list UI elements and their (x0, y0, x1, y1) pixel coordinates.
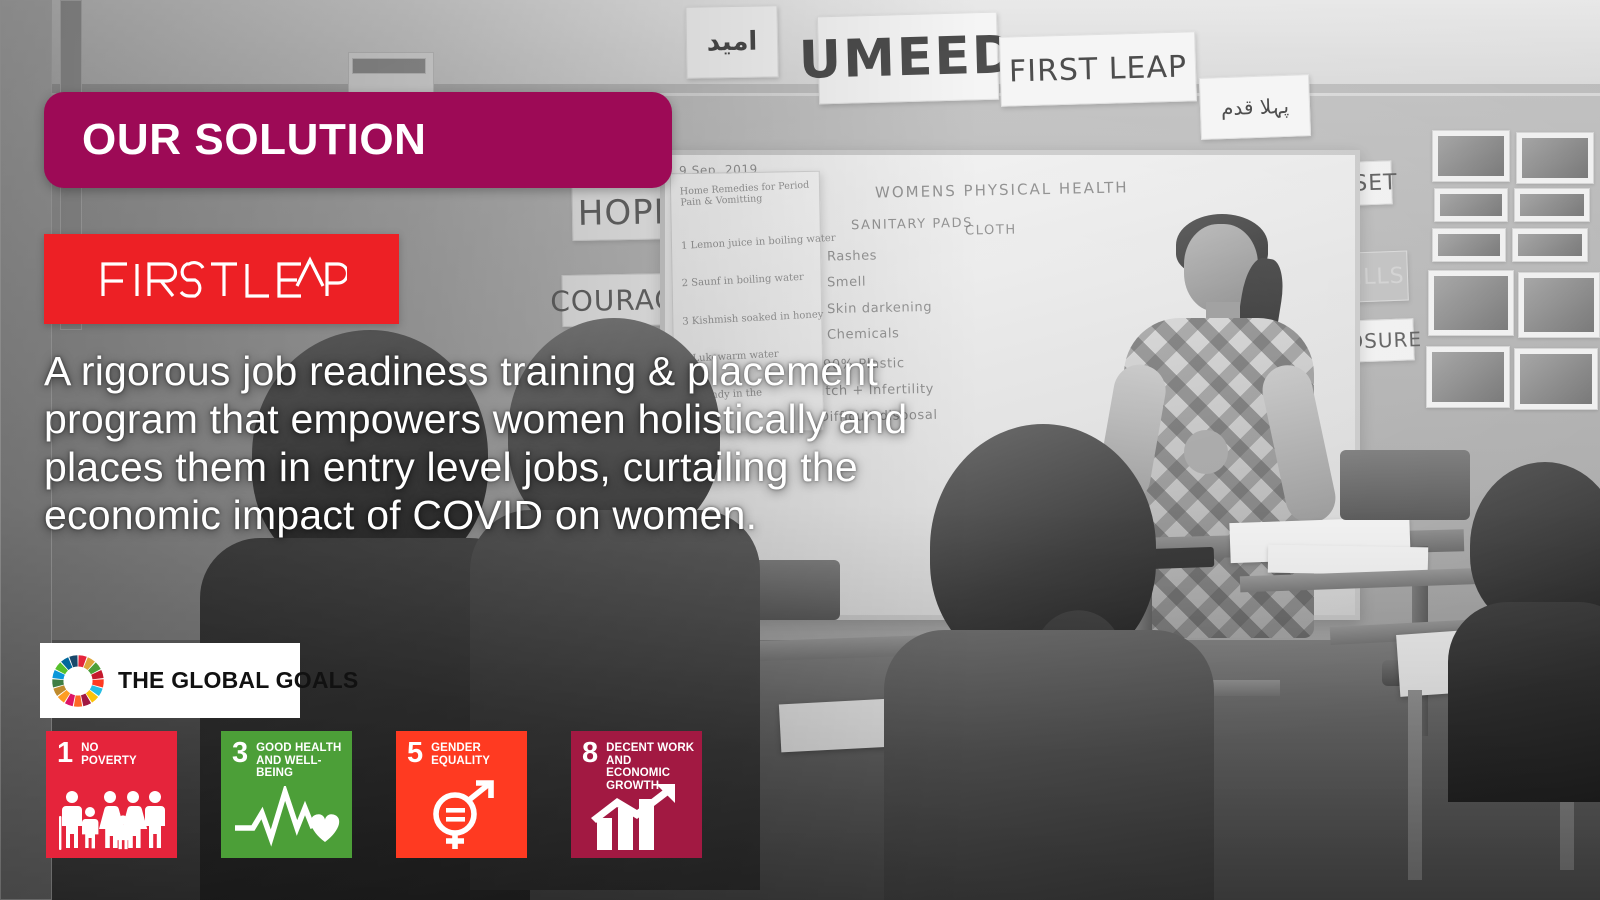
sdg-badge-1: 1 NO POVERTY (46, 731, 177, 858)
sdg-badge-8: 8 DECENT WORK AND ECONOMIC GROWTH (571, 731, 702, 858)
section-title-banner: OUR SOLUTION (44, 92, 672, 188)
page-title: OUR SOLUTION (44, 115, 427, 165)
sdg-label: NO POVERTY (81, 740, 137, 767)
sdg-label: GOOD HEALTH AND WELL-BEING (256, 740, 346, 780)
sdg-number: 1 (57, 740, 73, 767)
sdg-number: 3 (232, 740, 248, 767)
presentation-slide: امید UMEED FIRST LEAP پہلا قدم HOPE COUR… (0, 0, 1600, 900)
growth-chart-icon (571, 784, 702, 852)
firstleap-logo-box (44, 234, 399, 324)
slide-content: OUR SOLUTION (0, 0, 1600, 900)
heartbeat-icon (221, 784, 352, 852)
sdg-number: 5 (407, 740, 423, 767)
family-icon (46, 784, 177, 852)
sdg-number: 8 (582, 740, 598, 767)
global-goals-lockup: THE GLOBAL GOALS (40, 643, 300, 718)
global-goals-label: THE GLOBAL GOALS (118, 667, 358, 694)
solution-description: A rigorous job readiness training & plac… (44, 348, 944, 540)
sdg-label: GENDER EQUALITY (431, 740, 490, 767)
sdg-badge-3: 3 GOOD HEALTH AND WELL-BEING (221, 731, 352, 858)
firstleap-wordmark-icon (97, 252, 347, 306)
gender-equality-icon (396, 784, 527, 852)
sdg-badge-5: 5 GENDER EQUALITY (396, 731, 527, 858)
sdg-badge-row: 1 NO POVERTY (46, 731, 702, 858)
global-goals-wheel-icon (50, 653, 106, 709)
